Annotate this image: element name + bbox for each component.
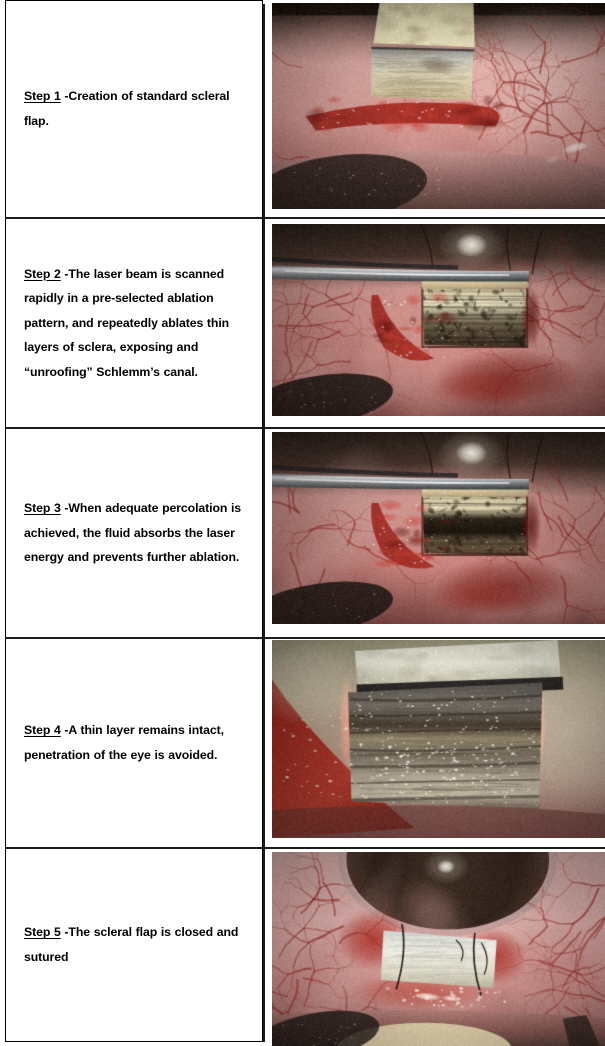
photo-step-4-thin-residual-layer bbox=[272, 640, 605, 838]
photo-step-5-flap-sutured bbox=[272, 852, 605, 1046]
step-description-text: Step 5 -The scleral flap is closed and s… bbox=[6, 920, 262, 969]
surgical-steps-figure: Step 1 -Creation of standard scleral fla… bbox=[0, 0, 605, 1046]
step-description-cell: Step 1 -Creation of standard scleral fla… bbox=[5, 0, 263, 218]
table-left-border bbox=[5, 4, 6, 1042]
photo-step-1-scleral-flap bbox=[272, 3, 605, 209]
photo-cell bbox=[263, 218, 605, 428]
step-label: Step 5 bbox=[24, 925, 61, 939]
column-divider bbox=[263, 4, 265, 218]
photo-step-3-percolation bbox=[272, 432, 605, 624]
column-divider bbox=[263, 639, 265, 847]
photo-cell bbox=[263, 0, 605, 218]
step-description-text: Step 1 -Creation of standard scleral fla… bbox=[6, 84, 262, 133]
step-description-cell: Step 2 -The laser beam is scanned rapidl… bbox=[5, 218, 263, 428]
step-label: Step 1 bbox=[24, 89, 61, 103]
step-description-text: Step 3 -When adequate percolation is ach… bbox=[6, 496, 262, 570]
step-label: Step 4 bbox=[24, 723, 61, 737]
photo-cell bbox=[263, 428, 605, 638]
table-row: Step 3 -When adequate percolation is ach… bbox=[0, 428, 605, 638]
row-divider bbox=[5, 847, 605, 849]
column-divider bbox=[263, 849, 265, 1042]
step-body: -The laser beam is scanned rapidly in a … bbox=[24, 267, 229, 379]
step-description-text: Step 4 -A thin layer remains intact, pen… bbox=[6, 718, 262, 767]
column-divider bbox=[263, 219, 265, 427]
row-divider bbox=[5, 637, 605, 639]
step-description-cell: Step 3 -When adequate percolation is ach… bbox=[5, 428, 263, 638]
photo-cell bbox=[263, 638, 605, 848]
column-divider bbox=[263, 429, 265, 637]
step-description-text: Step 2 -The laser beam is scanned rapidl… bbox=[6, 262, 262, 385]
photo-step-2-laser-ablation bbox=[272, 224, 605, 416]
table-row: Step 2 -The laser beam is scanned rapidl… bbox=[0, 218, 605, 428]
step-description-cell: Step 5 -The scleral flap is closed and s… bbox=[5, 848, 263, 1042]
table-row: Step 4 -A thin layer remains intact, pen… bbox=[0, 638, 605, 848]
step-label: Step 2 bbox=[24, 267, 61, 281]
step-description-cell: Step 4 -A thin layer remains intact, pen… bbox=[5, 638, 263, 848]
row-divider bbox=[5, 217, 605, 219]
photo-cell bbox=[263, 852, 605, 1046]
step-label: Step 3 bbox=[24, 501, 61, 515]
table-row: Step 1 -Creation of standard scleral fla… bbox=[0, 0, 605, 218]
row-divider bbox=[5, 427, 605, 429]
